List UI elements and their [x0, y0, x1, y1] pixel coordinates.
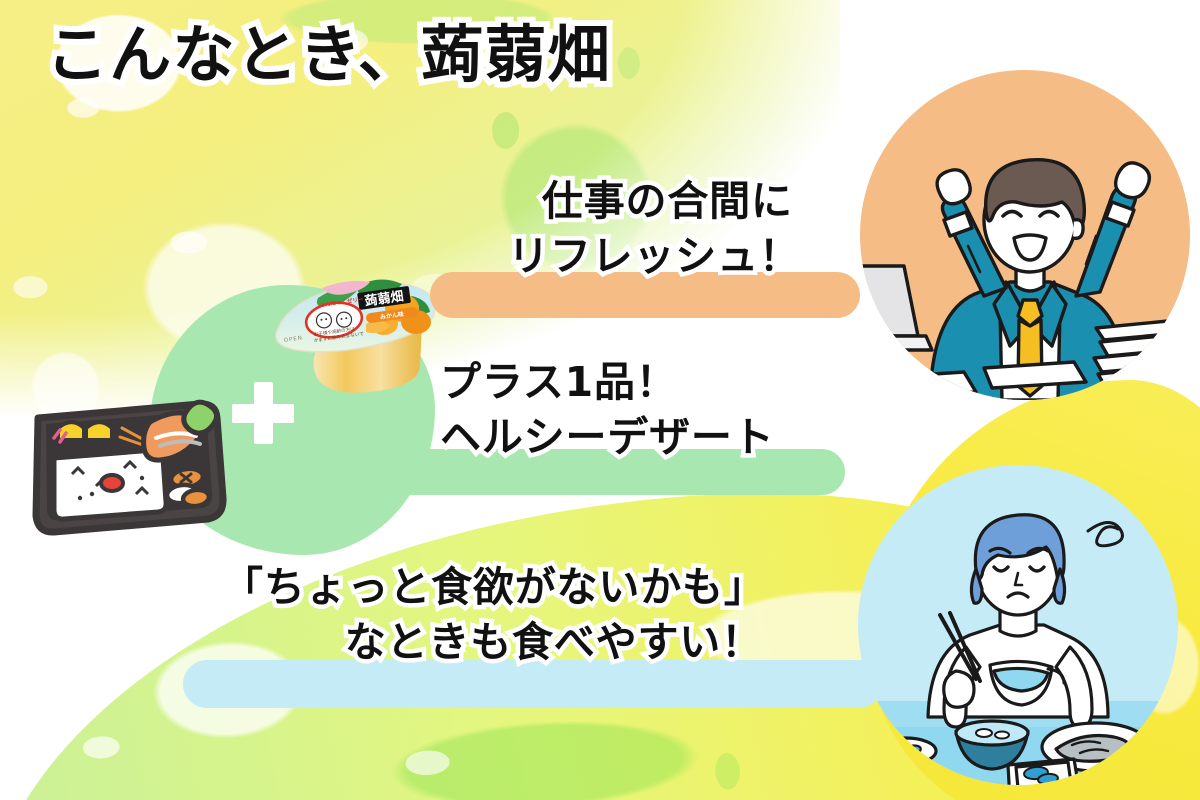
callout-refresh: 仕事の合間に リフレッシュ！ — [508, 174, 801, 283]
bento-illustration — [24, 382, 234, 542]
callout-plus-one-line-1: プラス1品！ — [440, 355, 775, 410]
woman-illustration-circle — [858, 465, 1178, 785]
callout-appetite-line-1: 「ちょっと食欲がないかも」 — [222, 560, 766, 615]
callout-plus-one: プラス1品！ ヘルシーデザート — [440, 355, 775, 464]
page-title: こんなとき、蒟蒻畑 — [46, 22, 611, 89]
callout-appetite: 「ちょっと食欲がないかも」 なときも食べやすい！ — [222, 560, 766, 669]
poster-canvas: こんなとき、蒟蒻畑 — [0, 0, 1200, 800]
worker-illustration-circle — [860, 70, 1190, 400]
callout-plus-one-line-2: ヘルシーデザート — [440, 410, 775, 465]
konnyaku-cup-illustration: 蒟蒻畑 みかん味 こんにゃくゼリー お子様や高齢の方は かまずに飲み込まないで … — [262, 272, 442, 402]
callout-appetite-line-2: なときも食べやすい！ — [342, 615, 766, 670]
callout-refresh-line-2: リフレッシュ！ — [508, 229, 801, 284]
callout-refresh-line-1: 仕事の合間に — [534, 174, 801, 229]
